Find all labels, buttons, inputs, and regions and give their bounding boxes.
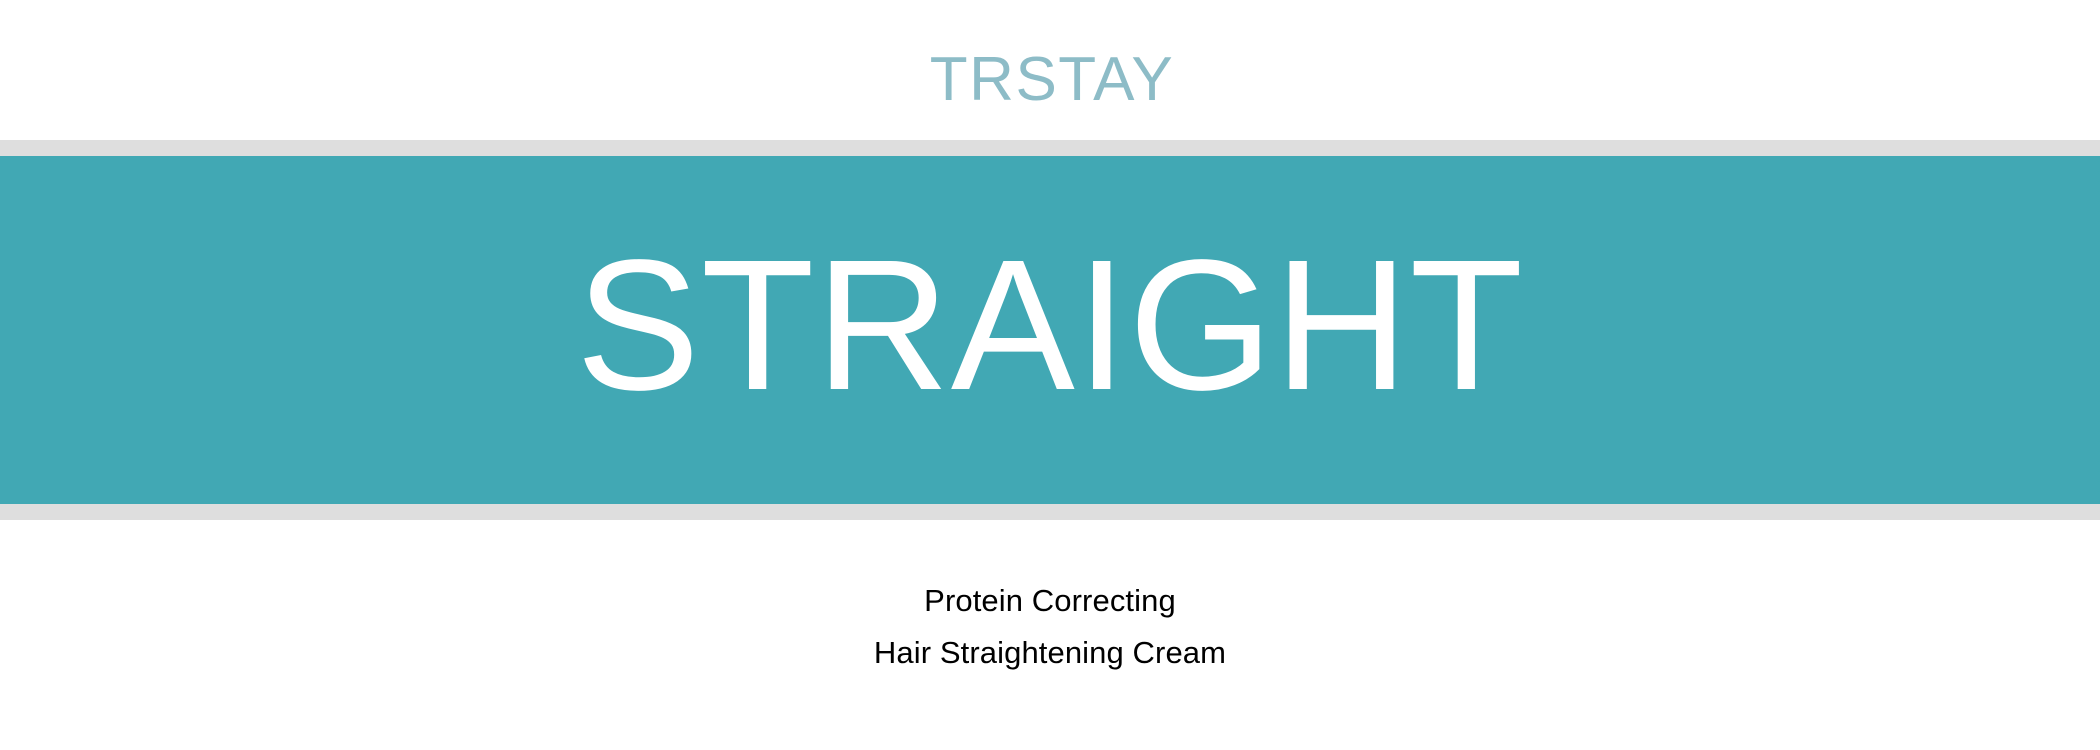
hero-banner: STRAIGHT <box>0 156 2100 504</box>
hero-title: STRAIGHT <box>576 233 1524 419</box>
descriptor-line-primary: Protein Correcting <box>924 575 1176 627</box>
brand-wordmark: TRSTAY <box>926 49 1174 111</box>
brand-zone: TRSTAY <box>0 0 2100 140</box>
divider-rule-bottom <box>0 504 2100 520</box>
descriptor-line-secondary: Hair Straightening Cream <box>874 627 1226 679</box>
product-label-canvas: TRSTAY STRAIGHT Protein Correcting Hair … <box>0 0 2100 750</box>
divider-rule-top <box>0 140 2100 156</box>
descriptor-zone: Protein Correcting Hair Straightening Cr… <box>0 520 2100 750</box>
